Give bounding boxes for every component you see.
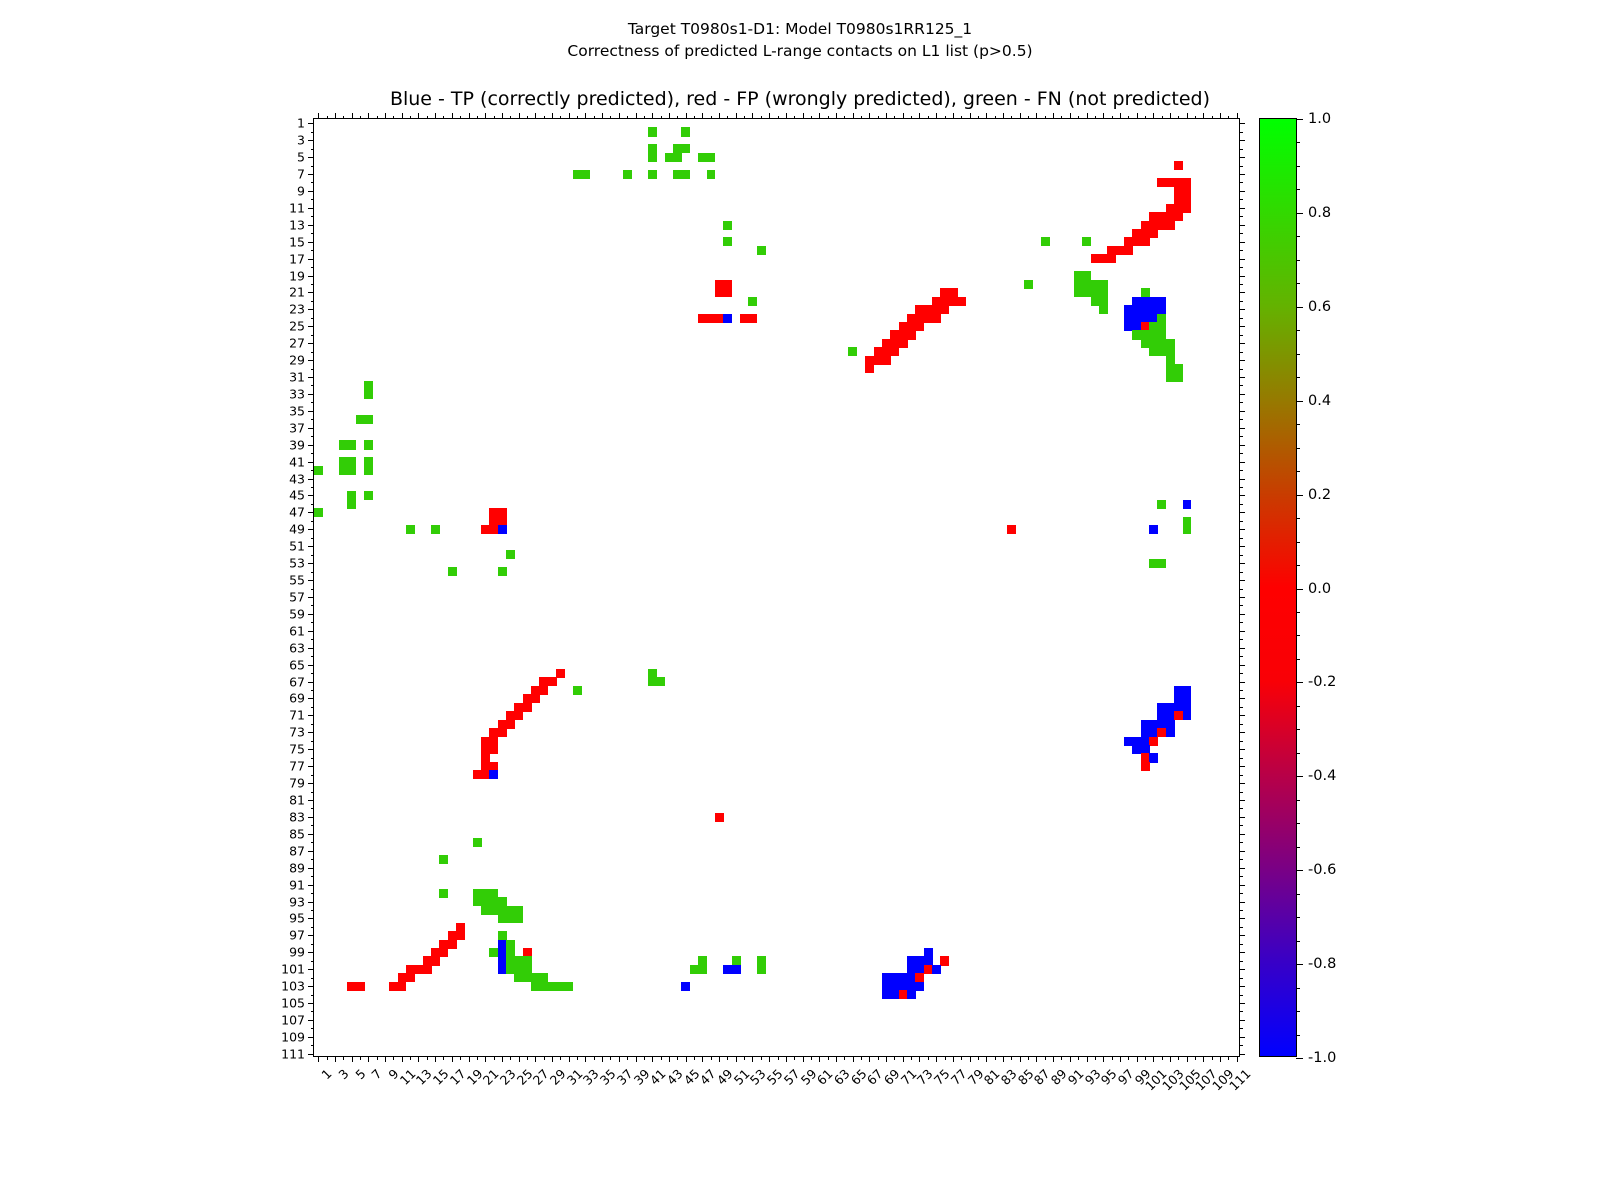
- y-axis-tick-right: [1239, 876, 1243, 877]
- x-axis-tick: [485, 1056, 486, 1062]
- y-axis-tick: [308, 800, 314, 801]
- y-axis-tick-right: [1239, 758, 1243, 759]
- y-axis-tick-right: [1239, 986, 1245, 987]
- contact-cell: [915, 982, 924, 991]
- x-axis-tick-top: [702, 113, 703, 119]
- y-axis-label: 39: [289, 437, 305, 452]
- x-axis-tick: [727, 1056, 728, 1060]
- x-axis-tick-top: [769, 113, 770, 119]
- x-axis-tick-top: [552, 113, 553, 119]
- y-axis-tick-right: [1239, 326, 1245, 327]
- y-axis-tick: [311, 724, 315, 725]
- x-axis-tick: [368, 1056, 369, 1062]
- y-axis-tick: [308, 326, 314, 327]
- x-axis-tick: [669, 1056, 670, 1062]
- contact-cell: [456, 931, 465, 940]
- contact-cell: [957, 297, 966, 306]
- y-axis-tick-right: [1239, 902, 1245, 903]
- y-axis-label: 25: [289, 319, 305, 334]
- contact-cells-layer: [314, 119, 1239, 1056]
- x-axis-tick: [627, 1056, 628, 1060]
- y-axis-tick: [311, 199, 315, 200]
- contact-cell: [940, 956, 949, 965]
- x-axis-tick-top: [844, 116, 845, 120]
- contact-cell: [707, 153, 716, 162]
- y-axis-tick-right: [1239, 267, 1243, 268]
- x-axis-tick-top: [1003, 113, 1004, 119]
- y-axis-tick-right: [1239, 868, 1245, 869]
- y-axis-tick-right: [1239, 741, 1243, 742]
- x-axis-tick: [1112, 1056, 1113, 1060]
- colorbar-minor-tick: [1296, 706, 1300, 707]
- x-axis-tick-top: [544, 116, 545, 120]
- contact-cell: [347, 440, 356, 449]
- x-axis-tick-top: [569, 113, 570, 119]
- x-axis-tick: [527, 1056, 528, 1060]
- y-axis-label: 5: [297, 150, 305, 165]
- x-axis-tick: [928, 1056, 929, 1060]
- y-axis-label: 99: [289, 945, 305, 960]
- x-axis-tick-top: [794, 116, 795, 120]
- contact-cell: [1157, 559, 1166, 568]
- y-axis-label: 97: [289, 928, 305, 943]
- colorbar-minor-tick: [1296, 800, 1300, 801]
- x-axis-tick: [502, 1056, 503, 1062]
- y-axis-tick-right: [1239, 242, 1245, 243]
- contact-cell: [531, 694, 540, 703]
- contact-cell: [1149, 737, 1158, 746]
- y-axis-tick: [308, 157, 314, 158]
- y-axis-tick: [308, 259, 314, 260]
- x-axis-tick: [1237, 1056, 1238, 1062]
- contact-cell: [314, 508, 323, 517]
- x-axis-tick: [636, 1056, 637, 1062]
- x-axis-tick-top: [1087, 113, 1088, 119]
- x-axis-tick-top: [836, 113, 837, 119]
- y-axis-tick: [311, 419, 315, 420]
- x-axis-tick: [869, 1056, 870, 1062]
- y-axis-tick-right: [1239, 597, 1245, 598]
- x-axis-tick-top: [786, 113, 787, 119]
- y-axis-tick-right: [1239, 132, 1243, 133]
- colorbar-minor-tick: [1296, 635, 1300, 636]
- x-axis-tick: [410, 1056, 411, 1060]
- x-axis-tick-top: [1061, 116, 1062, 120]
- x-axis-tick-top: [469, 113, 470, 119]
- contact-cell: [907, 330, 916, 339]
- y-axis-tick: [308, 952, 314, 953]
- y-axis-tick-right: [1239, 944, 1243, 945]
- colorbar-minor-tick: [1296, 565, 1300, 566]
- contact-cell: [1183, 711, 1192, 720]
- x-axis-tick: [661, 1056, 662, 1060]
- x-axis-tick-top: [953, 113, 954, 119]
- x-axis-tick: [1145, 1056, 1146, 1060]
- y-axis-tick-right: [1239, 479, 1245, 480]
- x-axis-tick: [811, 1056, 812, 1060]
- y-axis-tick: [308, 377, 314, 378]
- x-axis-tick: [427, 1056, 428, 1060]
- contact-cell: [439, 889, 448, 898]
- y-axis-label: 29: [289, 353, 305, 368]
- y-axis-tick: [308, 191, 314, 192]
- contact-cell: [723, 221, 732, 230]
- y-axis-tick: [308, 1054, 314, 1055]
- x-axis-tick-top: [911, 116, 912, 120]
- colorbar-tick-label: 0.8: [1308, 205, 1331, 221]
- contact-cell: [406, 525, 415, 534]
- y-axis-label: 15: [289, 234, 305, 249]
- x-axis-tick: [594, 1056, 595, 1060]
- y-axis-tick: [308, 766, 314, 767]
- contact-cell: [548, 677, 557, 686]
- y-axis-tick: [308, 276, 314, 277]
- x-axis-tick: [1020, 1056, 1021, 1062]
- y-axis-tick: [311, 284, 315, 285]
- colorbar-minor-tick: [1296, 1035, 1300, 1036]
- contact-cell: [723, 288, 732, 297]
- x-axis-label: 1: [319, 1066, 335, 1082]
- y-axis-tick-right: [1239, 622, 1243, 623]
- contact-cell: [573, 686, 582, 695]
- x-axis-tick-top: [1011, 116, 1012, 120]
- y-axis-tick: [311, 436, 315, 437]
- y-axis-tick-right: [1239, 546, 1245, 547]
- colorbar-minor-tick: [1296, 471, 1300, 472]
- x-axis-tick-top: [828, 116, 829, 120]
- y-axis-tick: [308, 479, 314, 480]
- contact-cell: [890, 347, 899, 356]
- y-axis-tick: [311, 352, 315, 353]
- colorbar: 1.00.80.60.40.20.0-0.2-0.4-0.6-0.8-1.0: [1259, 118, 1297, 1057]
- y-axis-label: 107: [281, 1012, 305, 1027]
- x-axis-tick: [1228, 1056, 1229, 1060]
- y-axis-tick: [311, 166, 315, 167]
- x-axis-tick: [903, 1056, 904, 1062]
- y-axis-tick-right: [1239, 732, 1245, 733]
- x-axis-tick-top: [619, 113, 620, 119]
- y-axis-label: 91: [289, 877, 305, 892]
- contact-cell: [473, 838, 482, 847]
- y-axis-tick: [308, 225, 314, 226]
- colorbar-minor-tick: [1296, 354, 1300, 355]
- y-axis-tick-right: [1239, 673, 1243, 674]
- y-axis-tick: [311, 995, 315, 996]
- contact-cell: [940, 305, 949, 314]
- x-axis-tick: [803, 1056, 804, 1062]
- x-axis-tick-top: [919, 113, 920, 119]
- y-axis-tick: [311, 589, 315, 590]
- contact-cell: [364, 390, 373, 399]
- contact-cell: [423, 965, 432, 974]
- x-axis-tick-top: [661, 116, 662, 120]
- contact-cell: [723, 237, 732, 246]
- y-axis-tick: [311, 267, 315, 268]
- y-axis-label: 71: [289, 708, 305, 723]
- x-axis-tick: [402, 1056, 403, 1062]
- contact-cell: [506, 720, 515, 729]
- x-axis-tick: [469, 1056, 470, 1062]
- contact-cell: [523, 703, 532, 712]
- x-axis-tick-top: [385, 113, 386, 119]
- y-axis-tick-right: [1239, 1020, 1245, 1021]
- y-axis-label: 9: [297, 183, 305, 198]
- y-axis-tick: [311, 487, 315, 488]
- contact-cell: [1174, 161, 1183, 170]
- x-axis-tick-top: [577, 116, 578, 120]
- x-axis-tick-top: [352, 113, 353, 119]
- x-axis-tick: [970, 1056, 971, 1062]
- x-axis-tick-top: [477, 116, 478, 120]
- y-axis-tick: [311, 369, 315, 370]
- y-axis-label: 19: [289, 268, 305, 283]
- x-axis-tick-top: [594, 116, 595, 120]
- x-axis-tick: [552, 1056, 553, 1062]
- y-axis-tick: [308, 140, 314, 141]
- colorbar-minor-tick: [1296, 260, 1300, 261]
- y-axis-label: 1: [297, 116, 305, 131]
- y-axis-tick-right: [1239, 402, 1243, 403]
- y-axis-tick-right: [1239, 631, 1245, 632]
- x-axis-tick: [702, 1056, 703, 1062]
- x-axis-tick-top: [360, 116, 361, 120]
- y-axis-tick: [311, 1011, 315, 1012]
- contact-cell: [1141, 237, 1150, 246]
- contact-cell: [698, 965, 707, 974]
- y-axis-tick: [311, 335, 315, 336]
- y-axis-label: 103: [281, 979, 305, 994]
- y-axis-tick: [311, 1028, 315, 1029]
- x-axis-tick: [477, 1056, 478, 1060]
- y-axis-tick-right: [1239, 445, 1245, 446]
- y-axis-tick-right: [1239, 605, 1243, 606]
- x-axis-tick: [560, 1056, 561, 1060]
- y-axis-tick: [311, 233, 315, 234]
- y-axis-tick-right: [1239, 1028, 1243, 1029]
- y-axis-tick: [311, 673, 315, 674]
- contact-cell: [314, 466, 323, 475]
- x-axis-tick: [544, 1056, 545, 1060]
- y-axis-tick-right: [1239, 301, 1243, 302]
- x-axis-tick-top: [886, 113, 887, 119]
- contact-cell: [581, 170, 590, 179]
- x-axis-tick: [1053, 1056, 1054, 1062]
- y-axis-tick: [311, 842, 315, 843]
- y-axis-tick: [308, 834, 314, 835]
- contact-cell: [1183, 500, 1192, 509]
- x-axis-tick-top: [936, 113, 937, 119]
- y-axis-tick-right: [1239, 978, 1243, 979]
- y-axis-tick: [308, 1003, 314, 1004]
- contact-cell: [498, 525, 507, 534]
- y-axis-tick-right: [1239, 512, 1245, 513]
- colorbar-minor-tick: [1296, 823, 1300, 824]
- x-axis-tick: [385, 1056, 386, 1062]
- y-axis-tick: [308, 1037, 314, 1038]
- y-axis-label: 33: [289, 386, 305, 401]
- y-axis-label: 75: [289, 742, 305, 757]
- x-axis-tick-top: [1170, 113, 1171, 119]
- y-axis-label: 83: [289, 809, 305, 824]
- x-axis-tick: [861, 1056, 862, 1060]
- x-axis-tick: [878, 1056, 879, 1060]
- x-axis-tick-top: [560, 116, 561, 120]
- contact-cell: [489, 745, 498, 754]
- y-axis-tick: [308, 715, 314, 716]
- colorbar-tick: [1296, 870, 1303, 871]
- x-axis-tick-top: [418, 113, 419, 119]
- contact-cell: [1183, 204, 1192, 213]
- contact-cell: [1157, 500, 1166, 509]
- contact-cell: [748, 297, 757, 306]
- x-axis-tick: [1103, 1056, 1104, 1062]
- x-axis-tick-top: [819, 113, 820, 119]
- colorbar-minor-tick: [1296, 236, 1300, 237]
- contact-cell: [514, 711, 523, 720]
- y-axis-tick: [311, 622, 315, 623]
- x-axis-tick: [652, 1056, 653, 1062]
- x-axis-tick: [844, 1056, 845, 1060]
- y-axis-tick-right: [1239, 453, 1243, 454]
- x-axis-tick: [1120, 1056, 1121, 1062]
- contact-cell: [707, 170, 716, 179]
- contact-cell: [648, 153, 657, 162]
- x-axis-tick-top: [610, 116, 611, 120]
- figure-title: Target T0980s1-D1: Model T0980s1RR125_1 …: [0, 18, 1600, 62]
- x-axis-tick: [1078, 1056, 1079, 1060]
- y-axis-tick-right: [1239, 385, 1243, 386]
- y-axis-tick-right: [1239, 775, 1243, 776]
- x-axis-tick: [919, 1056, 920, 1062]
- y-axis-tick-right: [1239, 834, 1245, 835]
- x-axis-tick: [1170, 1056, 1171, 1062]
- y-axis-tick-right: [1239, 428, 1245, 429]
- y-axis-tick-right: [1239, 792, 1243, 793]
- x-axis-tick: [585, 1056, 586, 1062]
- y-axis-tick-right: [1239, 715, 1245, 716]
- colorbar-minor-tick: [1296, 448, 1300, 449]
- y-axis-tick: [311, 690, 315, 691]
- y-axis-tick-right: [1239, 1037, 1245, 1038]
- y-axis-tick-right: [1239, 859, 1243, 860]
- contact-cell: [356, 982, 365, 991]
- colorbar-minor-tick: [1296, 189, 1300, 190]
- y-axis-tick-right: [1239, 580, 1245, 581]
- x-axis-tick: [794, 1056, 795, 1060]
- x-axis-tick-top: [327, 116, 328, 120]
- x-axis-tick-top: [1162, 116, 1163, 120]
- y-axis-tick: [308, 902, 314, 903]
- contact-cell: [364, 415, 373, 424]
- y-axis-tick: [311, 792, 315, 793]
- x-axis-tick: [711, 1056, 712, 1060]
- y-axis-tick: [308, 529, 314, 530]
- y-axis-tick: [311, 555, 315, 556]
- y-axis-tick: [311, 775, 315, 776]
- x-axis-tick: [752, 1056, 753, 1062]
- x-axis-tick: [786, 1056, 787, 1062]
- y-axis-tick-right: [1239, 648, 1245, 649]
- y-axis-tick-right: [1239, 149, 1243, 150]
- y-axis-tick-right: [1239, 335, 1243, 336]
- x-axis-tick: [819, 1056, 820, 1062]
- y-axis-tick: [311, 182, 315, 183]
- y-axis-label: 111: [281, 1046, 305, 1061]
- x-axis-tick-top: [978, 116, 979, 120]
- y-axis-tick-right: [1239, 656, 1243, 657]
- x-axis-tick: [677, 1056, 678, 1060]
- contact-cell: [1107, 254, 1116, 263]
- y-axis-tick-right: [1239, 166, 1243, 167]
- contact-cell: [364, 466, 373, 475]
- x-axis-tick: [1036, 1056, 1037, 1062]
- y-axis-label: 43: [289, 471, 305, 486]
- y-axis-tick-right: [1239, 1003, 1245, 1004]
- x-axis-tick-top: [669, 113, 670, 119]
- y-axis-tick: [308, 851, 314, 852]
- x-axis-tick: [886, 1056, 887, 1062]
- x-axis-tick: [1070, 1056, 1071, 1062]
- y-axis-tick-right: [1239, 216, 1243, 217]
- contact-cell: [489, 770, 498, 779]
- y-axis-tick: [311, 132, 315, 133]
- contact-cell: [681, 170, 690, 179]
- y-axis-tick-right: [1239, 495, 1245, 496]
- x-axis-tick-top: [1178, 116, 1179, 120]
- colorbar-minor-tick: [1296, 495, 1300, 496]
- contact-cell: [1149, 525, 1158, 534]
- x-axis-tick: [945, 1056, 946, 1060]
- y-axis-label: 61: [289, 623, 305, 638]
- color-legend-text: Blue - TP (correctly predicted), red - F…: [0, 88, 1600, 110]
- y-axis-tick-right: [1239, 411, 1245, 412]
- y-axis-label: 73: [289, 725, 305, 740]
- colorbar-minor-tick: [1296, 307, 1300, 308]
- contact-cell: [556, 669, 565, 678]
- y-axis-tick-right: [1239, 250, 1243, 251]
- x-axis-tick: [569, 1056, 570, 1062]
- y-axis-tick-right: [1239, 538, 1243, 539]
- y-axis-tick: [311, 521, 315, 522]
- x-axis-tick-top: [318, 113, 319, 119]
- colorbar-tick-label: 1.0: [1308, 111, 1331, 127]
- contact-cell: [899, 339, 908, 348]
- y-axis-tick: [308, 512, 314, 513]
- y-axis-tick: [308, 428, 314, 429]
- x-axis-tick-top: [644, 116, 645, 120]
- y-axis-tick: [308, 411, 314, 412]
- x-axis-tick: [352, 1056, 353, 1062]
- contact-cell: [347, 466, 356, 475]
- y-axis-tick-right: [1239, 555, 1243, 556]
- x-axis-tick: [1137, 1056, 1138, 1062]
- x-axis-tick-top: [945, 116, 946, 120]
- y-axis-tick-right: [1239, 749, 1245, 750]
- y-axis-tick: [308, 174, 314, 175]
- x-axis-tick-top: [460, 116, 461, 120]
- x-axis-tick-top: [1020, 113, 1021, 119]
- colorbar-tick: [1296, 1058, 1303, 1059]
- x-axis-tick-top: [727, 116, 728, 120]
- y-axis-tick: [308, 749, 314, 750]
- colorbar-minor-tick: [1296, 518, 1300, 519]
- x-axis-tick: [1011, 1056, 1012, 1060]
- y-axis-tick: [308, 394, 314, 395]
- y-axis-tick: [311, 656, 315, 657]
- x-axis-tick: [644, 1056, 645, 1060]
- y-axis-tick-right: [1239, 470, 1243, 471]
- y-axis-tick: [311, 453, 315, 454]
